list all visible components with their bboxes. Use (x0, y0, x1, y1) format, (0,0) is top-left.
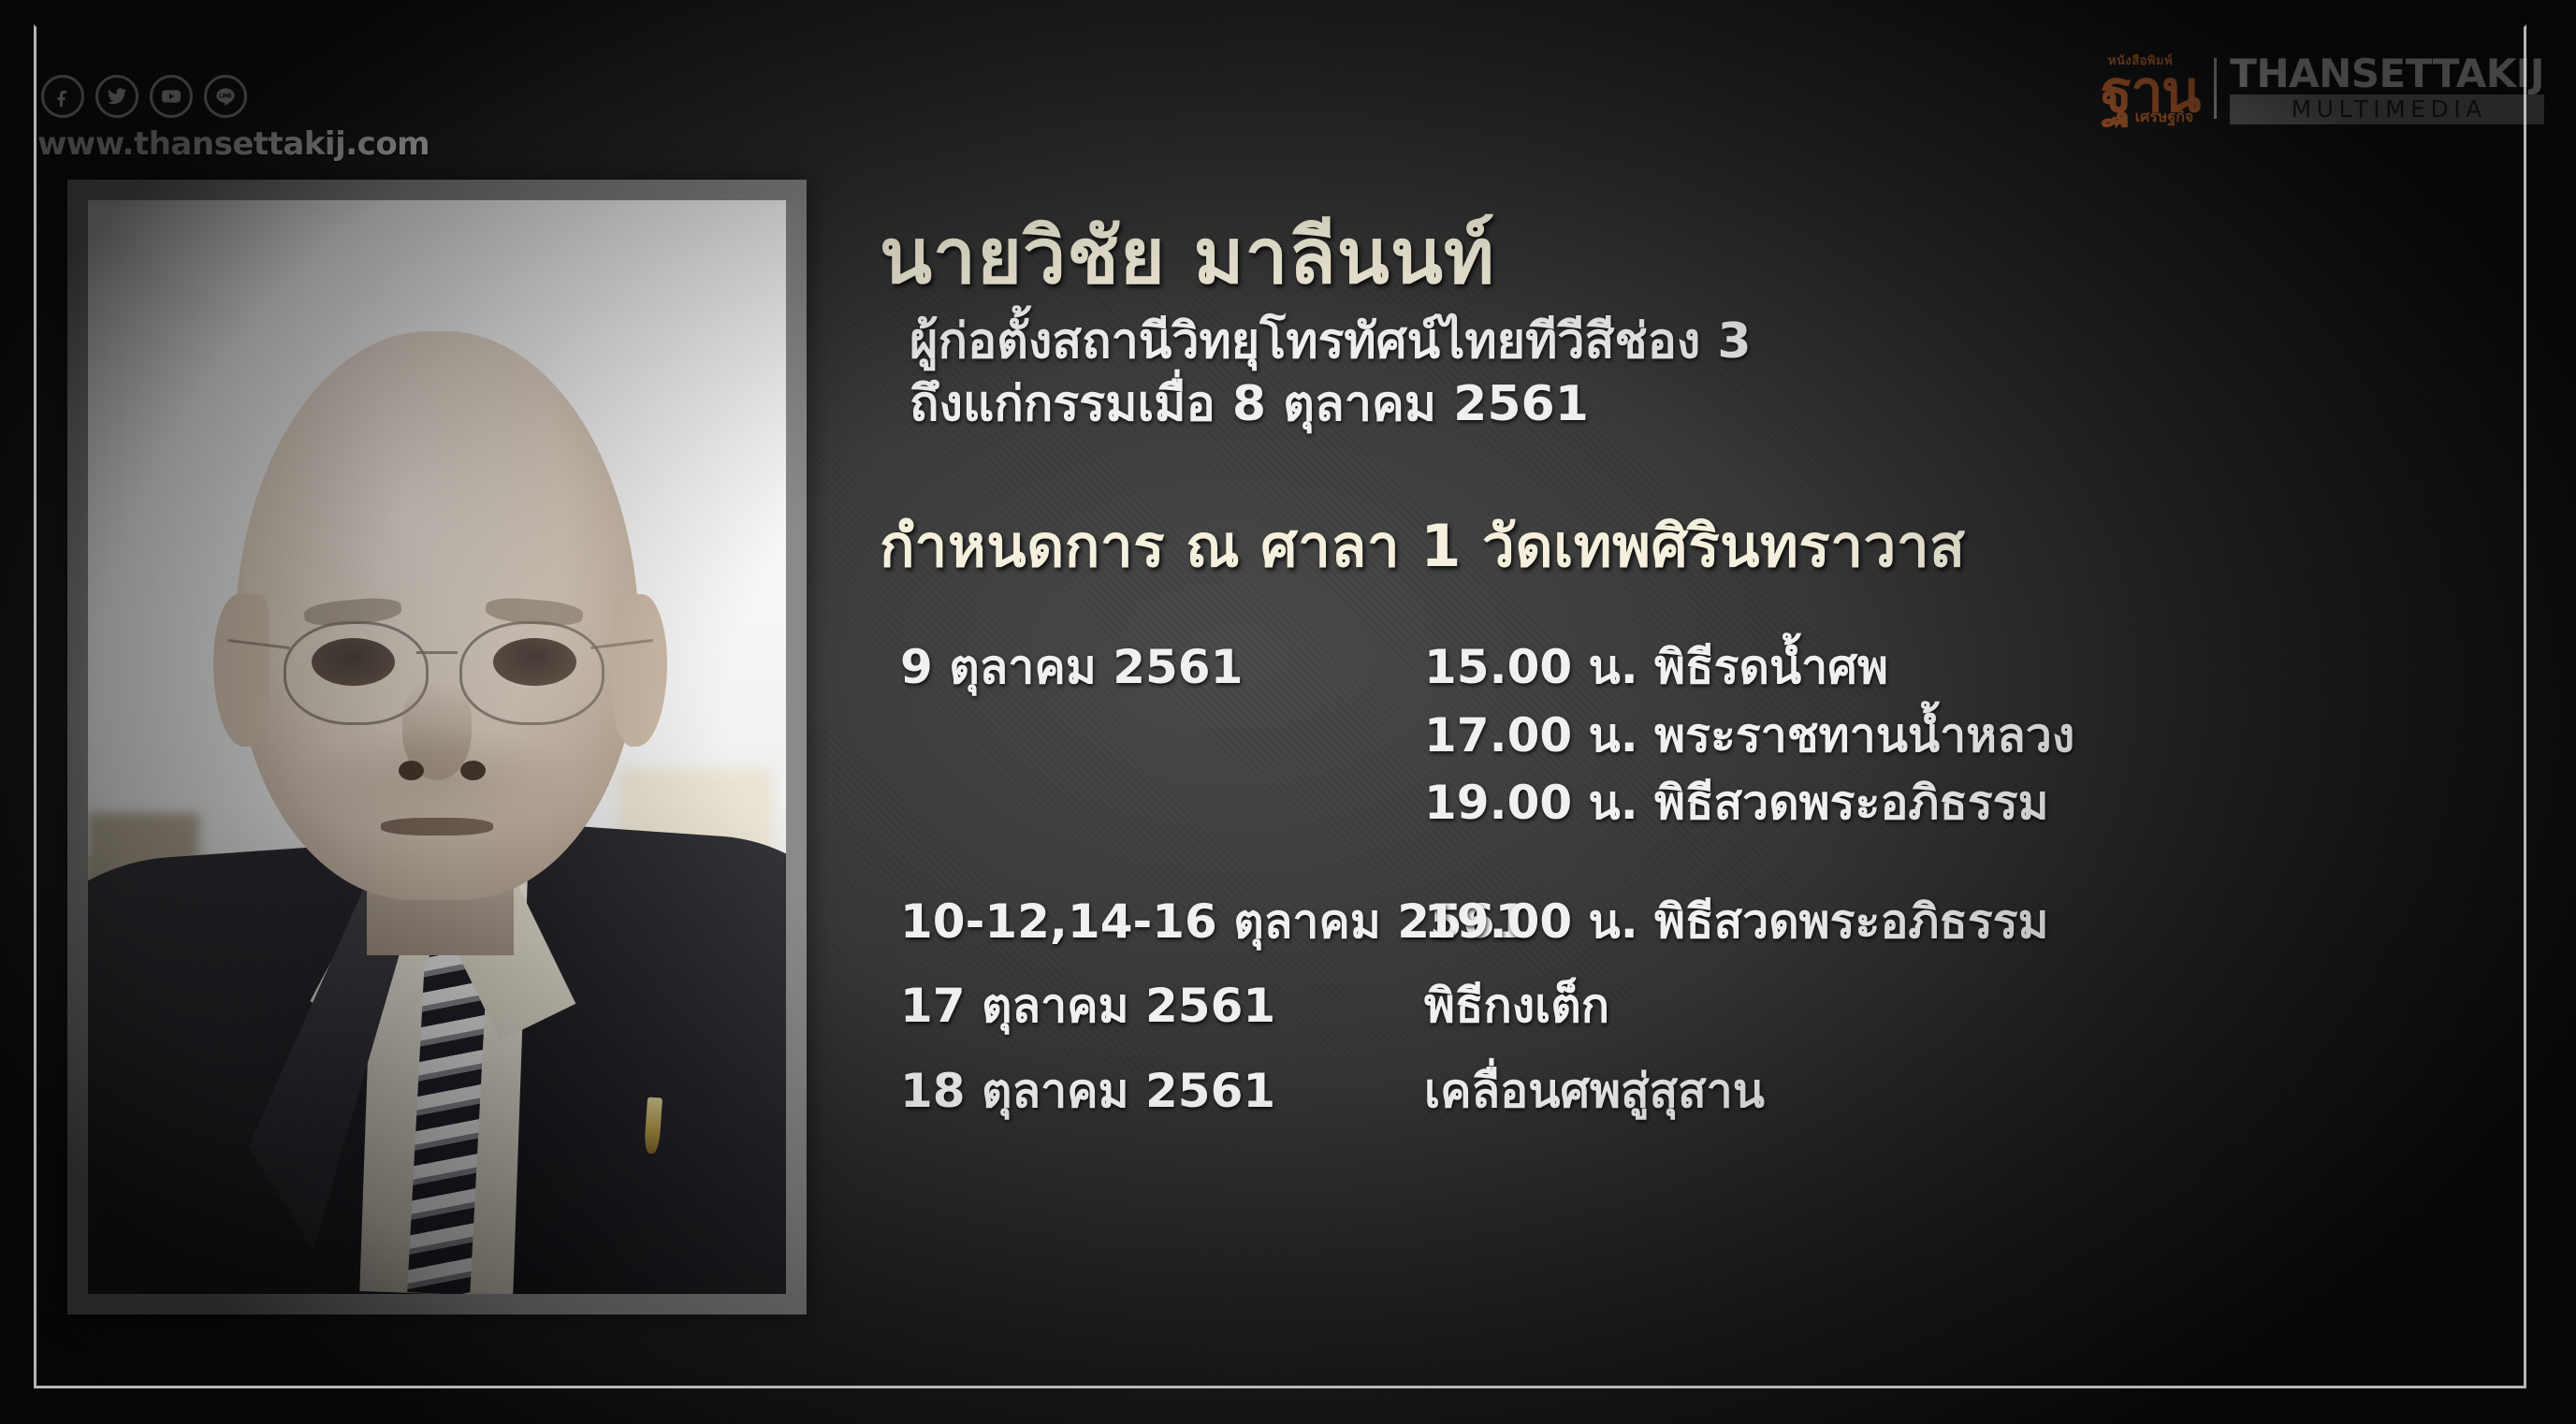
schedule-table: 9 ตุลาคม 2561 15.00 น. พิธีรดน้ำศพ 17.00… (900, 633, 2526, 1125)
brand-logo-divider (2214, 58, 2217, 119)
death-date: ถึงแก่กรรมเมื่อ 8 ตุลาคม 2561 (910, 373, 2526, 436)
schedule-event: 19.00 น. พิธีสวดพระอภิธรรม (1424, 888, 2526, 956)
schedule-events: พิธีกงเต็ก (1424, 972, 2526, 1040)
deceased-name: นายวิชัย มาลีนนท์ (880, 215, 2526, 299)
schedule-row: 18 ตุลาคม 2561 เคลื่อนศพสู่สุสาน (900, 1057, 2526, 1126)
memorial-card: www.thansettakij.com หนังสือพิมพ์ ฐาน เศ… (0, 0, 2576, 1424)
deceased-role: ผู้ก่อตั้งสถานีวิทยุโทรทัศน์ไทยทีวีสีช่อ… (910, 311, 2526, 373)
brand-logo-english: THANSETTAKIJ MULTIMEDIA (2230, 54, 2544, 124)
schedule-events: เคลื่อนศพสู่สุสาน (1424, 1057, 2526, 1126)
line-icon[interactable] (204, 75, 247, 118)
schedule-row: 17 ตุลาคม 2561 พิธีกงเต็ก (900, 972, 2526, 1040)
twitter-icon[interactable] (95, 75, 138, 118)
schedule-row: 9 ตุลาคม 2561 15.00 น. พิธีรดน้ำศพ 17.00… (900, 633, 2526, 837)
schedule-event: 19.00 น. พิธีสวดพระอภิธรรม (1424, 769, 2526, 837)
brand-logo-subtitle: MULTIMEDIA (2230, 94, 2544, 125)
brand-logo-name: THANSETTAKIJ (2230, 54, 2544, 94)
schedule-row: 10-12,14-16 ตุลาคม 2561 19.00 น. พิธีสวด… (900, 888, 2526, 956)
schedule-event: 15.00 น. พิธีรดน้ำศพ (1424, 633, 2526, 702)
social-links (41, 75, 247, 118)
schedule-date: 9 ตุลาคม 2561 (900, 633, 1424, 702)
schedule-date: 18 ตุลาคม 2561 (900, 1057, 1424, 1126)
schedule-date: 17 ตุลาคม 2561 (900, 972, 1424, 1040)
memorial-text-block: นายวิชัย มาลีนนท์ ผู้ก่อตั้งสถานีวิทยุโท… (880, 215, 2526, 1125)
schedule-heading: กำหนดการ ณ ศาลา 1 วัดเทพศิรินทราวาส (880, 501, 2526, 592)
brand-logo[interactable]: หนังสือพิมพ์ ฐาน เศรษฐกิจ THANSETTAKIJ M… (2101, 54, 2544, 124)
schedule-date: 10-12,14-16 ตุลาคม 2561 (900, 888, 1424, 956)
schedule-event: เคลื่อนศพสู่สุสาน (1424, 1057, 2526, 1126)
portrait-photo (88, 200, 786, 1294)
youtube-icon[interactable] (150, 75, 193, 118)
schedule-event: 17.00 น. พระราชทานน้ำหลวง (1424, 702, 2526, 770)
photo-shading-overlay (88, 200, 786, 1294)
schedule-events: 15.00 น. พิธีรดน้ำศพ 17.00 น. พระราชทานน… (1424, 633, 2526, 837)
schedule-event: พิธีกงเต็ก (1424, 972, 2526, 1040)
website-url[interactable]: www.thansettakij.com (37, 125, 429, 163)
schedule-events: 19.00 น. พิธีสวดพระอภิธรรม (1424, 888, 2526, 956)
facebook-icon[interactable] (41, 75, 84, 118)
brand-logo-thai: หนังสือพิมพ์ ฐาน เศรษฐกิจ (2101, 55, 2214, 125)
portrait-frame (67, 180, 807, 1315)
